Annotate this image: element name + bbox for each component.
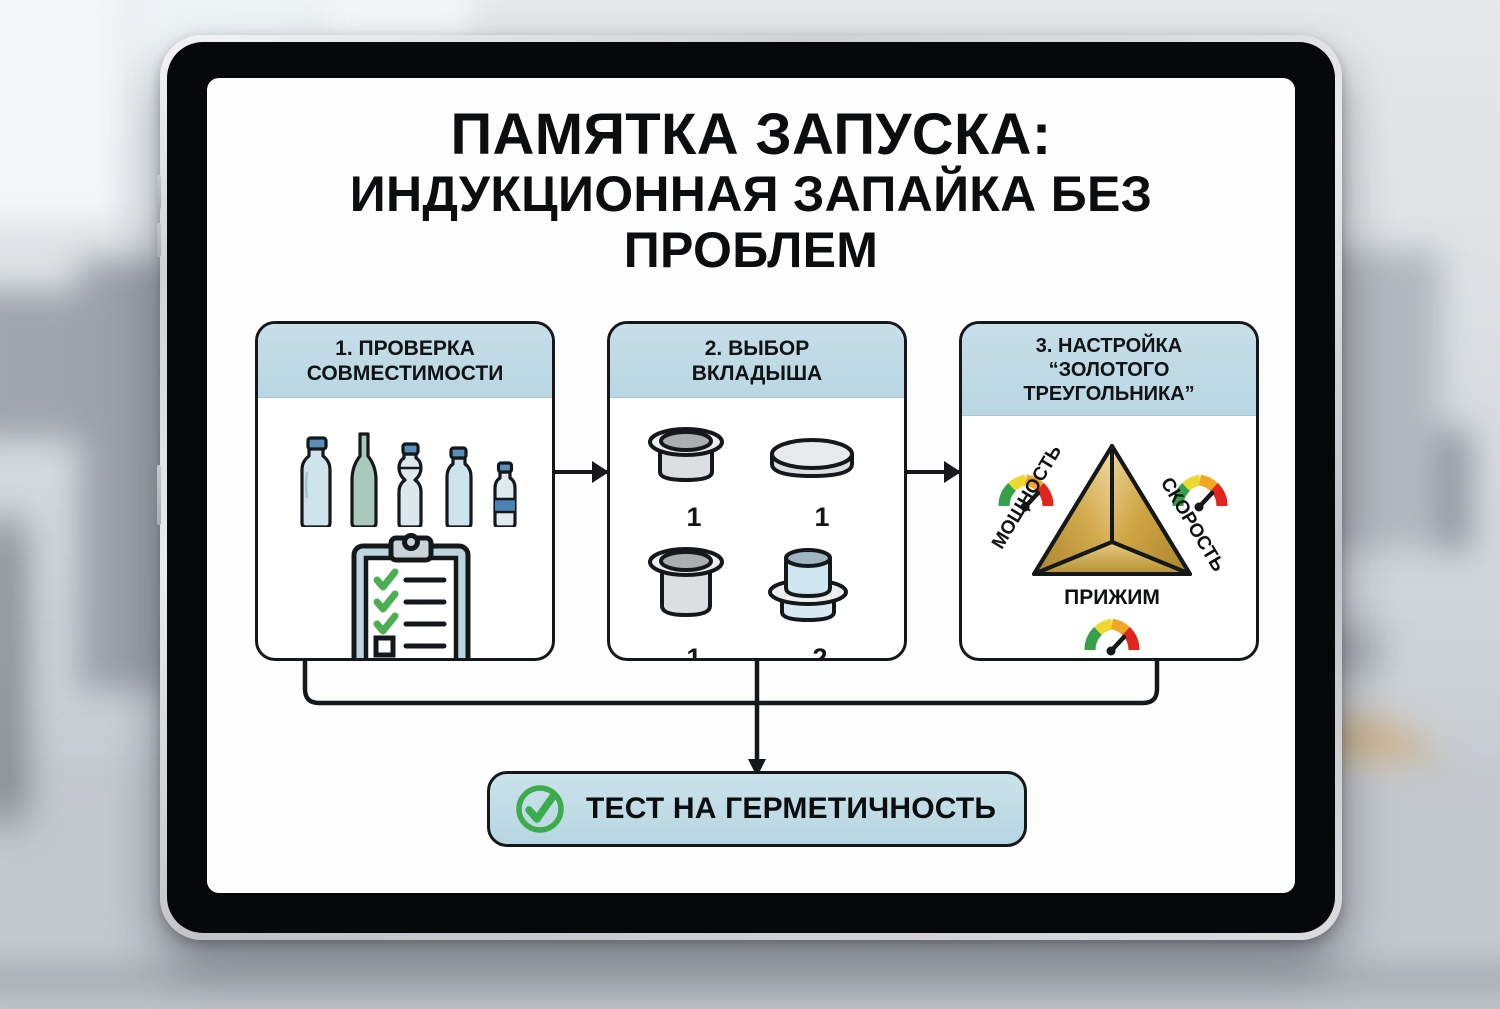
panel-3-header-line-1: 3. НАСТРОЙКА (968, 334, 1250, 358)
panel-1-header: 1. ПРОВЕРКА СОВМЕСТИМОСТИ (258, 324, 552, 398)
checklist-clipboard-icon (336, 530, 486, 661)
leak-test-label: ТЕСТ НА ГЕРМЕТИЧНОСТЬ (586, 792, 996, 826)
panel-3-header-line-2: “ЗОЛОТОГО (968, 358, 1250, 382)
panel-3-header-line-3: ТРЕУГОЛЬНИКА” (968, 382, 1250, 406)
flow-connector (207, 653, 1295, 783)
panel-2-header: 2. ВЫБОР ВКЛАДЫША (610, 324, 904, 398)
panel-2-header-line-2: ВКЛАДЫША (618, 361, 896, 386)
panel-3-body: МОЩНОСТЬ СКОРОСТЬ ПРИЖИМ (962, 416, 1256, 661)
panel-liner-selection[interactable]: 2. ВЫБОР ВКЛАДЫША (607, 321, 907, 661)
gauge-pressure-icon (1090, 624, 1134, 656)
tablet-side-button-volume-down[interactable] (157, 223, 161, 257)
title-line-1: ПАМЯТКА ЗАПУСКА: (227, 104, 1275, 166)
check-circle-icon (514, 783, 566, 835)
liner-item-2-icon (762, 430, 872, 500)
panel-2-header-line-1: 2. ВЫБОР (618, 336, 896, 361)
panel-2-body: 1 1 (610, 398, 904, 661)
liner-item-1-label: 1 (664, 502, 724, 533)
bottles-illustration (274, 422, 555, 527)
tablet-screen[interactable]: ПАМЯТКА ЗАПУСКА: ИНДУКЦИОННАЯ ЗАПАЙКА БЕ… (207, 78, 1295, 893)
steps-row: 1. ПРОВЕРКА СОВМЕСТИМОСТИ (255, 321, 1259, 661)
arrow-step1-to-step2 (555, 470, 607, 474)
panel-1-body (258, 398, 552, 661)
panel-1-header-line-2: СОВМЕСТИМОСТИ (266, 361, 544, 386)
infographic-poster: ПАМЯТКА ЗАПУСКА: ИНДУКЦИОННАЯ ЗАПАЙКА БЕ… (207, 78, 1295, 893)
tablet-bezel: ПАМЯТКА ЗАПУСКА: ИНДУКЦИОННАЯ ЗАПАЙКА БЕ… (167, 42, 1335, 933)
arrow-step2-to-step3 (907, 470, 959, 474)
liner-item-3-icon (634, 538, 754, 633)
panel-1-header-line-1: 1. ПРОВЕРКА (266, 336, 544, 361)
tablet-side-button-volume-up[interactable] (157, 175, 161, 209)
liner-item-4-icon (760, 538, 880, 633)
panel-golden-triangle[interactable]: 3. НАСТРОЙКА “ЗОЛОТОГО ТРЕУГОЛЬНИКА” (959, 321, 1259, 661)
leak-test-banner[interactable]: ТЕСТ НА ГЕРМЕТИЧНОСТЬ (487, 771, 1027, 847)
triangle-label-pressure: ПРИЖИМ (962, 586, 1259, 610)
screenshot-scene: ПАМЯТКА ЗАПУСКА: ИНДУКЦИОННАЯ ЗАПАЙКА БЕ… (0, 0, 1500, 1009)
liner-item-2-label: 1 (792, 502, 852, 533)
tablet-device: ПАМЯТКА ЗАПУСКА: ИНДУКЦИОННАЯ ЗАПАЙКА БЕ… (160, 35, 1342, 940)
panel-3-header: 3. НАСТРОЙКА “ЗОЛОТОГО ТРЕУГОЛЬНИКА” (962, 324, 1256, 416)
tablet-side-button-power[interactable] (157, 465, 161, 525)
panel-compatibility-check[interactable]: 1. ПРОВЕРКА СОВМЕСТИМОСТИ (255, 321, 555, 661)
liner-item-1-icon (634, 418, 754, 498)
page-title: ПАМЯТКА ЗАПУСКА: ИНДУКЦИОННАЯ ЗАПАЙКА БЕ… (207, 78, 1295, 278)
title-line-2: ИНДУКЦИОННАЯ ЗАПАЙКА БЕЗ ПРОБЛЕМ (227, 166, 1275, 278)
